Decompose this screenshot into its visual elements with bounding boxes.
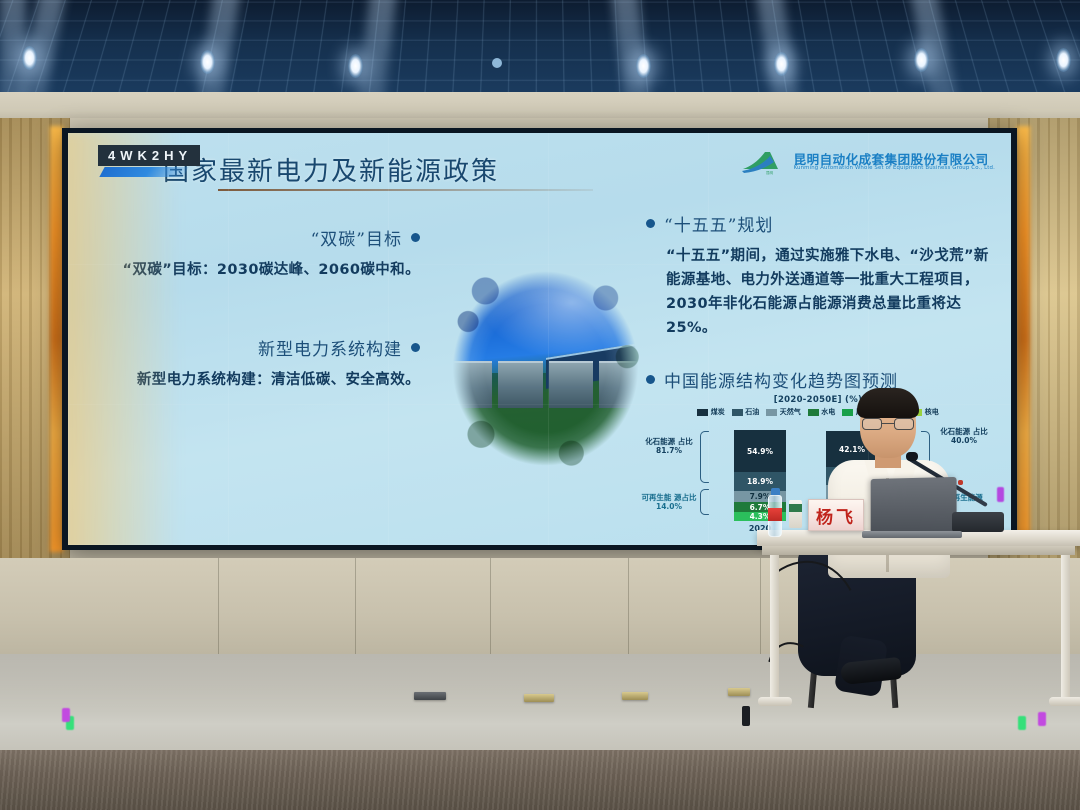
legend-item: 煤炭	[697, 407, 725, 417]
logo-mark-icon: 昆明	[741, 149, 787, 175]
presenter-hair	[857, 388, 919, 418]
presenter-glasses	[862, 418, 914, 430]
legend-label: 煤炭	[711, 407, 725, 417]
glasses-lens	[894, 418, 914, 430]
right-heading-1: “十五五”规划	[646, 211, 996, 236]
legend-item: 水电	[808, 407, 836, 417]
legend-swatch	[842, 409, 853, 416]
bullet-dot-icon	[411, 233, 420, 242]
ceiling-spotlight	[636, 54, 651, 78]
chart-legend: 煤炭 石油 天然气 水电	[638, 407, 998, 417]
right-heading-2-label: 中国能源结构变化趋势图预测	[664, 367, 898, 392]
annotation-label: 可再生能 源占比	[641, 493, 696, 502]
table-leg	[770, 555, 779, 703]
floor-box	[524, 694, 554, 702]
name-placard: 杨飞	[808, 499, 864, 531]
slide-left-column: “双碳”目标 “双碳”目标：2030碳达峰、2060碳中和。 新型电力系统构建 …	[90, 225, 420, 393]
cabinet	[447, 361, 492, 408]
annotation-renewable-2020: 可再生能 源占比 14.0%	[640, 493, 698, 512]
annotation-label: 化石能源 占比	[940, 427, 988, 436]
paper-cup[interactable]	[789, 500, 802, 528]
left-body-2: 新型电力系统构建：清洁低碳、安全高效。	[90, 369, 420, 393]
annotation-value: 14.0%	[656, 502, 682, 511]
brace-icon	[700, 431, 709, 483]
bullet-dot-icon	[646, 375, 655, 384]
legend-swatch	[732, 409, 743, 416]
water-bottle[interactable]	[768, 488, 782, 537]
slide-right-column: “十五五”规划 “十五五”期间，通过实施雅下水电、“沙戈荒”新能源基地、电力外送…	[646, 211, 996, 401]
annotation-label: 化石能源 占比	[645, 437, 693, 446]
legend-label: 天然气	[780, 407, 801, 417]
name-placard-text: 杨飞	[816, 503, 856, 528]
energy-photo-collage	[438, 251, 653, 486]
left-heading-1-label: “双碳”目标	[311, 225, 402, 250]
left-heading-2: 新型电力系统构建	[90, 335, 420, 360]
laptop-keyboard[interactable]	[862, 531, 962, 538]
legend-swatch	[697, 409, 708, 416]
stage-floor	[0, 654, 1080, 754]
av-device[interactable]	[952, 512, 1004, 532]
right-body-1: “十五五”期间，通过实施雅下水电、“沙戈荒”新能源基地、电力外送通道等一批重大工…	[646, 245, 996, 341]
ceiling	[0, 0, 1080, 98]
slide-title: 国家最新电力及新能源政策	[163, 151, 499, 188]
badge-chevron-icon	[99, 167, 188, 177]
ceiling-spotlight	[22, 46, 37, 70]
floor-box	[728, 688, 750, 696]
glasses-lens	[862, 418, 882, 430]
annotation-fossil-2050: 化石能源 占比 40.0%	[932, 427, 996, 446]
left-body-1: “双碳”目标：2030碳达峰、2060碳中和。	[90, 259, 420, 283]
title-underline	[218, 189, 593, 191]
laptop-screen[interactable]	[871, 477, 957, 535]
annotation-fossil-2020: 化石能源 占比 81.7%	[640, 437, 698, 456]
left-heading-1: “双碳”目标	[90, 225, 420, 250]
floor-led	[62, 708, 70, 722]
svg-text:昆明: 昆明	[766, 170, 774, 175]
screen-edge-light-right	[1017, 126, 1030, 552]
cabinet	[549, 361, 594, 408]
company-logo: 昆明 昆明自动化成套集团股份有限公司 Kunming Automation Wh…	[741, 149, 995, 175]
left-heading-2-label: 新型电力系统构建	[258, 335, 402, 360]
brace-icon	[700, 489, 709, 515]
bottle-label	[768, 508, 782, 521]
table-foot	[758, 697, 792, 706]
legend-label: 水电	[821, 407, 835, 417]
equipment-cabinets	[447, 361, 645, 408]
legend-swatch	[766, 409, 777, 416]
annotation-value: 40.0%	[951, 436, 977, 445]
legend-label: 核电	[925, 407, 939, 417]
cable-connector	[742, 706, 750, 726]
bottle-cap	[771, 488, 780, 495]
table-apron	[762, 546, 1075, 555]
bar-segment: 54.9%	[734, 430, 786, 472]
floor-box	[622, 692, 648, 700]
logo-company-cn: 昆明自动化成套集团股份有限公司	[794, 153, 995, 166]
conference-hall-scene: 4WK2HY 国家最新电力及新能源政策 昆明 昆明自动化成套集团股份有限公司 K…	[0, 0, 1080, 810]
stage-apron	[0, 750, 1080, 810]
table-leg	[1061, 555, 1070, 703]
legend-item: 天然气	[766, 407, 801, 417]
table-foot	[1049, 697, 1080, 706]
indicator-light	[997, 487, 1004, 502]
collage-image	[438, 251, 653, 486]
bullet-dot-icon	[646, 219, 655, 228]
legend-item: 石油	[732, 407, 760, 417]
microphone-band	[958, 480, 963, 485]
legend-label: 石油	[745, 407, 759, 417]
cabinet	[498, 361, 543, 408]
logo-company-en: Kunming Automation Whole Set of Equipmen…	[794, 166, 995, 172]
ceiling-spotlight	[1056, 48, 1071, 72]
watermark-code: 4WK2HY	[98, 145, 200, 166]
ceiling-spotlight	[348, 54, 363, 78]
watermark-badge: 4WK2HY	[98, 145, 200, 177]
annotation-value: 81.7%	[656, 446, 682, 455]
microphone-head-icon	[906, 452, 918, 461]
glasses-bridge	[882, 423, 894, 424]
right-heading-2: 中国能源结构变化趋势图预测	[646, 367, 996, 392]
floor-led	[1018, 716, 1026, 730]
ceiling-spotlight	[914, 48, 929, 72]
legend-swatch	[808, 409, 819, 416]
floor-reflection	[0, 654, 1080, 754]
right-heading-1-label: “十五五”规划	[664, 211, 773, 236]
ceiling-spotlight	[200, 50, 215, 74]
ceiling-vent	[492, 58, 502, 68]
light-beam	[0, 0, 26, 98]
ceiling-spotlight	[774, 52, 789, 76]
floor-led	[1038, 712, 1046, 726]
bullet-dot-icon	[411, 343, 420, 352]
floor-box	[414, 692, 446, 700]
chart-title: [2020-2050E] (%)	[638, 395, 998, 405]
